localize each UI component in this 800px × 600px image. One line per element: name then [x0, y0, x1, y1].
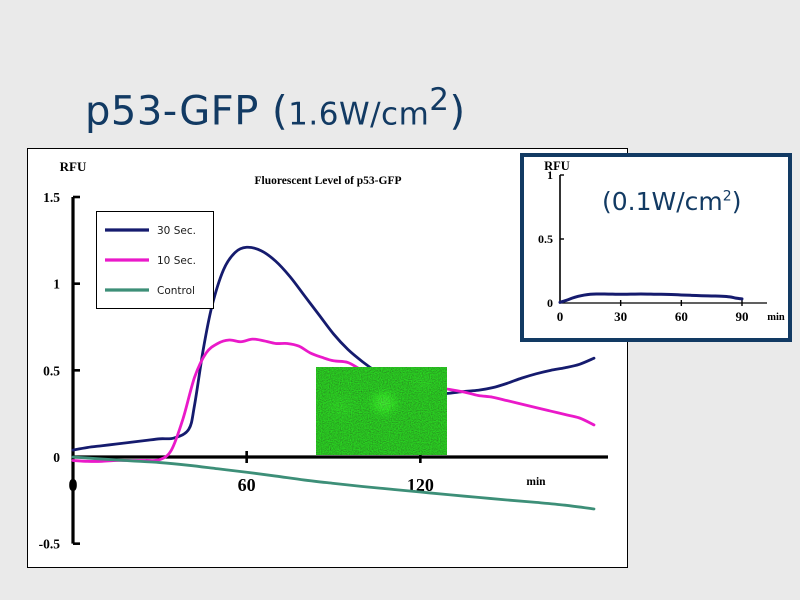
- x-axis-tick-label: 0: [69, 475, 78, 495]
- micrograph-treated-image: [316, 367, 447, 455]
- inset-x-axis-tick-label: 0: [557, 309, 564, 324]
- legend-label: Control: [157, 285, 195, 297]
- inset-y-axis-tick-label: 0.5: [538, 232, 553, 246]
- inset-y-axis-tick-label: 0: [547, 296, 553, 310]
- legend-label: 30 Sec.: [157, 225, 196, 237]
- x-axis-tick-label: 60: [238, 475, 256, 495]
- inset-series-line: [560, 294, 742, 302]
- page-title-prefix: p53-GFP: [85, 88, 259, 134]
- inset-title-paren-open: (: [602, 187, 612, 216]
- y-axis-tick-label: -0.5: [39, 537, 61, 552]
- legend-label: 10 Sec.: [157, 255, 196, 267]
- inset-chart-title: (0.1W/cm2): [602, 187, 741, 216]
- page-title: p53-GFP (1.6W/cm2): [85, 82, 466, 134]
- inset-title-dose-exponent: 2: [723, 189, 732, 205]
- inset-x-axis-unit-label: min: [767, 312, 785, 323]
- inset-title-paren-close: ): [732, 187, 742, 216]
- inset-x-axis-tick-label: 60: [675, 309, 688, 324]
- inset-y-axis-tick-label: 1: [547, 168, 553, 182]
- legend-content: 30 Sec.10 Sec.Control: [97, 212, 213, 308]
- inset-x-axis-tick-label: 90: [736, 309, 749, 324]
- inset-x-axis-tick-label: 30: [614, 309, 627, 324]
- series-line: [73, 457, 594, 509]
- inset-title-dose: 0.1W/cm: [612, 187, 723, 216]
- y-axis-tick-label: 1: [53, 277, 60, 292]
- y-axis-tick-label: 1.5: [43, 190, 60, 205]
- page-title-paren-close: ): [450, 88, 466, 134]
- page-title-dose: 1.6W/cm: [288, 96, 429, 132]
- y-axis-label: RFU: [60, 159, 87, 174]
- legend: 30 Sec.10 Sec.Control: [96, 211, 214, 309]
- slide-canvas: p53-GFP (1.6W/cm2) Fluorescent Level of …: [0, 0, 800, 600]
- inset-chart-panel: (0.1W/cm2) RFU 10.500306090 min: [520, 153, 792, 342]
- chart-title: Fluorescent Level of p53-GFP: [254, 175, 401, 187]
- y-axis-tick-label: 0: [53, 450, 60, 465]
- x-axis-unit-label: min: [526, 476, 546, 488]
- page-title-paren-open: (: [272, 88, 288, 134]
- y-axis-tick-label: 0.5: [43, 363, 60, 378]
- inset-chart-plot: RFU 10.500306090 min: [524, 157, 788, 338]
- page-title-dose-exponent: 2: [429, 82, 449, 118]
- micrograph-treated: [316, 367, 447, 455]
